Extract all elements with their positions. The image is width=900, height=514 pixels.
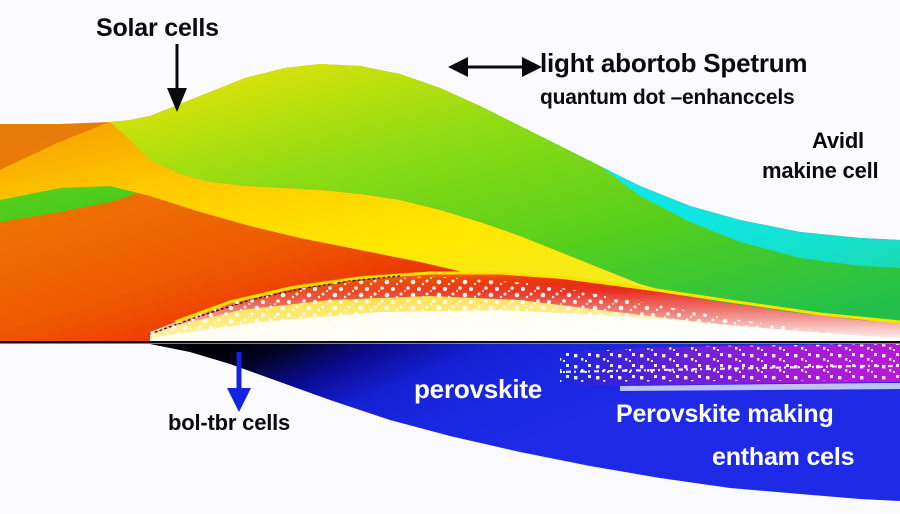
label-perovskite: perovskite [414,374,542,405]
label-solar-cells: Solar cells [96,14,219,43]
arrow-down-blue-icon [222,352,256,414]
label-perovskite-making: Perovskite making [616,400,834,429]
label-quantum-dot: quantum dot –enhanccels [540,86,794,110]
arrow-double-horizontal-icon [448,52,542,82]
label-avidl: Avidl [812,128,864,154]
warm-baseline [0,341,900,344]
label-makine-cell: makine cell [762,158,878,184]
figure-canvas: Solar cells light abortob Spetrum quantu… [0,0,900,514]
label-light-spectrum: light abortob Spetrum [540,48,807,79]
label-bol-tbr-cells: bol-tbr cells [168,410,290,436]
label-entham-cels: entham cels [712,443,854,472]
arrow-down-icon [160,44,194,114]
